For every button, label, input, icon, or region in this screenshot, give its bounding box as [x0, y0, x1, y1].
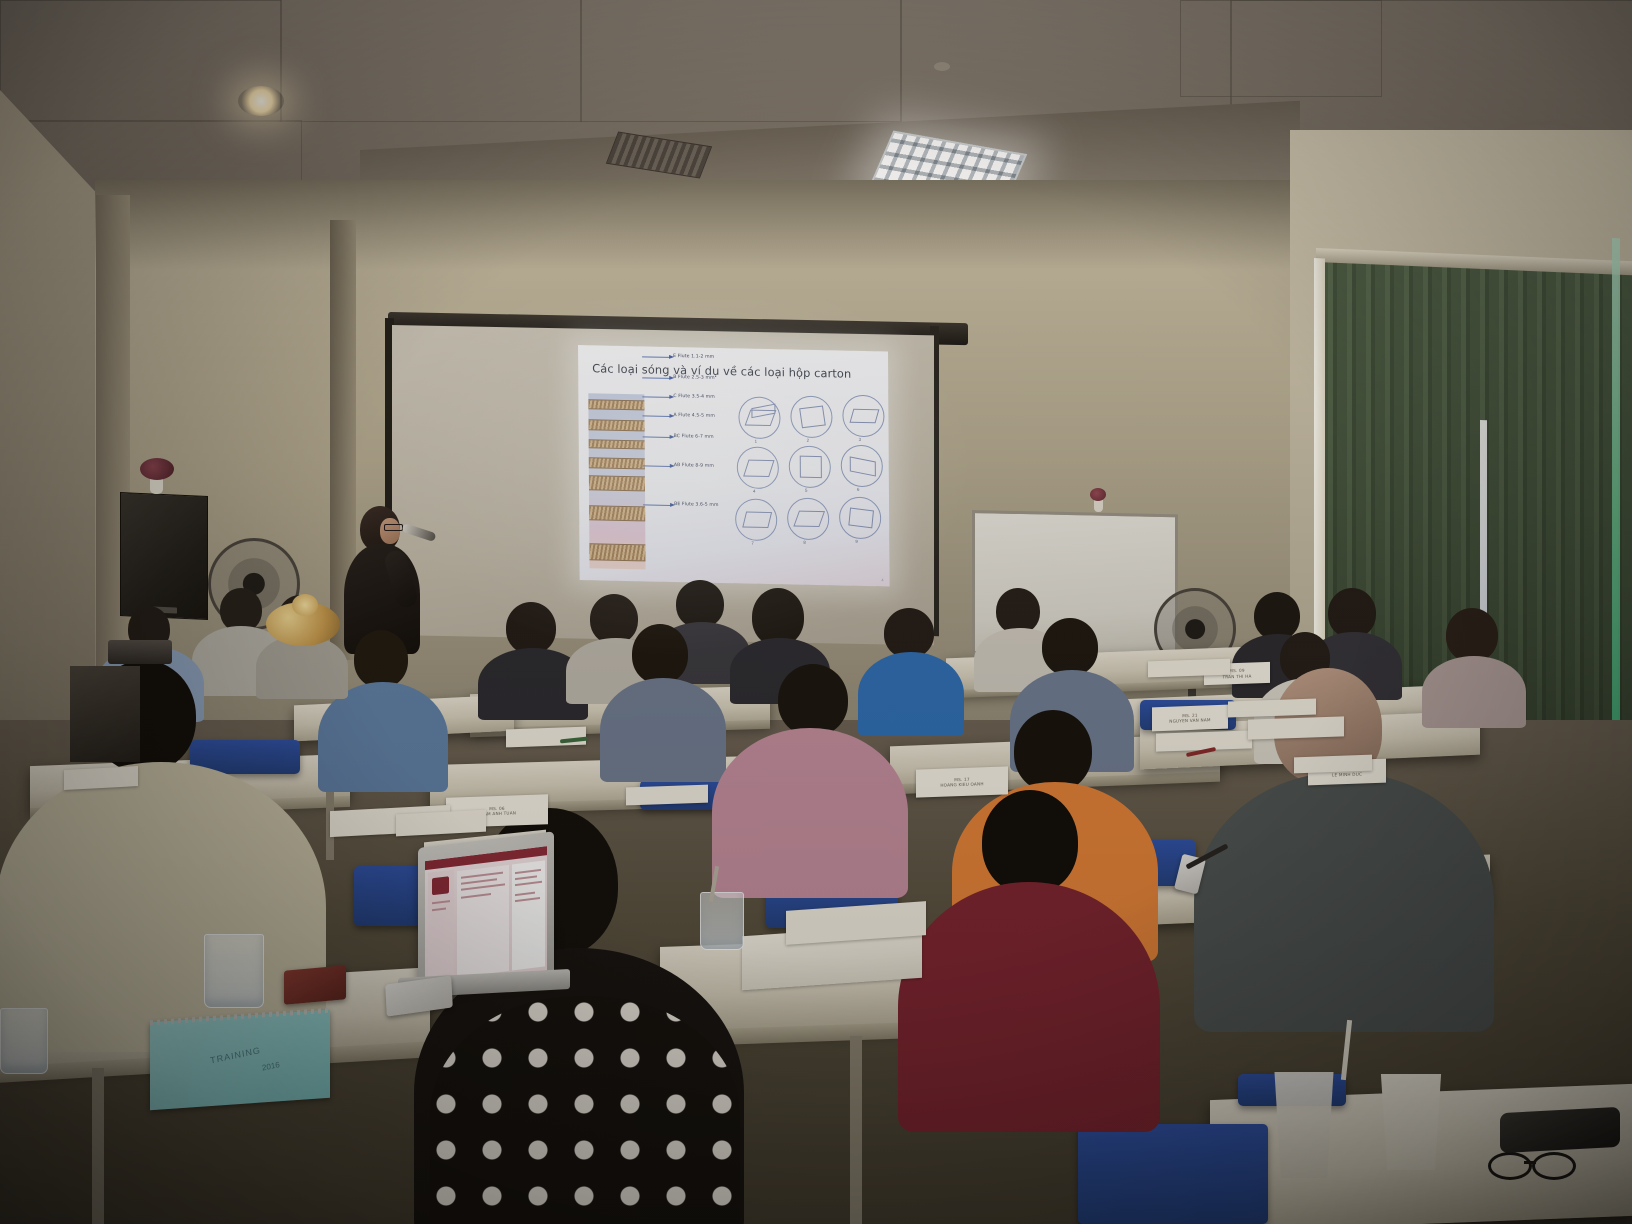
box-example	[789, 445, 831, 488]
handout-paper	[396, 810, 486, 837]
table-leg	[92, 1068, 104, 1224]
wall-speaker	[120, 492, 208, 620]
flute-label: BC Flute 6-7 mm	[674, 434, 714, 440]
slide-title: Các loại sóng và ví dụ về các loại hộp c…	[592, 361, 878, 381]
notebook[interactable]: TRAINING 2016	[150, 1010, 330, 1111]
handout-paper	[1294, 755, 1372, 774]
flower-bouquet	[266, 594, 340, 650]
name-card: MS. 17 HOANG KIEU OANH	[916, 766, 1008, 797]
box-number: 8	[803, 540, 805, 545]
box-number: 7	[751, 541, 753, 546]
box-example	[735, 498, 777, 541]
projected-slide: Các loại sóng và ví dụ về các loại hộp c…	[578, 345, 890, 587]
wall-shadow	[95, 180, 1355, 270]
flower-vase	[140, 458, 174, 496]
wallet[interactable]	[284, 965, 346, 1004]
box-example	[738, 396, 780, 439]
box-number: 1	[755, 439, 757, 444]
box-example	[790, 395, 832, 438]
presenter-glasses	[384, 524, 403, 531]
handout-paper	[1228, 698, 1316, 717]
laptop[interactable]	[418, 831, 554, 994]
box-number: 4	[753, 489, 755, 494]
notebook-sub-text: 2016	[261, 1060, 280, 1073]
flute-label: A Flute 4.5-5 mm	[673, 413, 714, 419]
flute-label: B Flute 2.5-3 mm	[673, 375, 714, 381]
presenter-face	[380, 518, 400, 544]
flute-label: AB Flute 8-9 mm	[674, 463, 714, 469]
polka-dot-top	[430, 996, 740, 1224]
name-card-line2: HOANG KIEU OANH	[940, 781, 983, 788]
box-example	[787, 497, 829, 540]
smoke-detector	[934, 62, 950, 71]
table-leg	[850, 1036, 862, 1224]
flute-label: E Flute 1.1-2 mm	[673, 354, 714, 360]
ceiling-downlight	[238, 86, 284, 116]
pencil-case	[1500, 1107, 1620, 1153]
box-number: 5	[805, 488, 807, 493]
paper-cup	[1376, 1074, 1446, 1170]
drinking-glass	[700, 892, 744, 950]
flute-label: BE Flute 3.6-5 mm	[674, 502, 718, 508]
flute-label: C Flute 3.5-4 mm	[673, 394, 715, 400]
podium-box	[70, 666, 140, 762]
handout-paper	[1148, 659, 1230, 678]
box-number: 2	[807, 438, 809, 443]
box-example	[842, 395, 884, 438]
flower-vase	[1090, 488, 1106, 512]
box-example	[839, 496, 881, 539]
chair[interactable]	[1078, 1124, 1268, 1224]
laptop-screen[interactable]	[425, 846, 547, 985]
box-number: 6	[857, 487, 859, 492]
name-card: MS. 21 NGUYEN VAN NAM	[1152, 705, 1228, 732]
name-card-line2: NGUYEN VAN NAM	[1169, 717, 1210, 723]
flute-samples-strip	[588, 393, 645, 569]
photo-scene: Các loại sóng và ví dụ về các loại hộp c…	[0, 0, 1632, 1224]
slide-page-number: 4	[881, 577, 883, 582]
equipment-rack	[108, 640, 172, 664]
handout-paper	[64, 766, 138, 790]
drinking-glass	[0, 1008, 48, 1074]
box-number: 9	[855, 539, 857, 544]
box-number: 3	[859, 437, 861, 442]
handout-paper	[1248, 716, 1344, 739]
box-example	[841, 445, 883, 488]
box-example	[737, 446, 779, 489]
drinking-glass	[204, 934, 264, 1008]
notebook-cover-text: TRAINING	[210, 1045, 262, 1065]
handout-paper	[626, 785, 708, 806]
name-card-line2: LE MINH DUC	[1332, 771, 1362, 777]
